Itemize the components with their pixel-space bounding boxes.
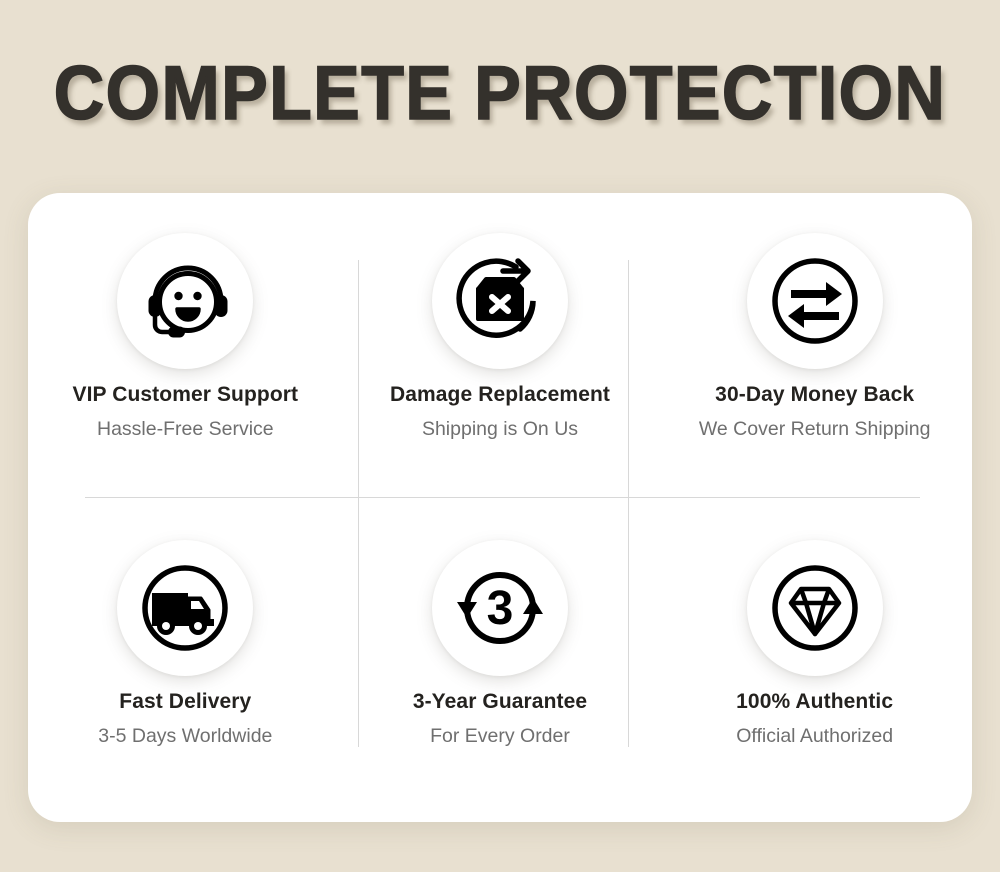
icon-number: 3 (487, 582, 514, 635)
feature-subtitle: Official Authorized (736, 725, 893, 748)
promo-banner: COMPLETE PROTECTION (0, 0, 1000, 872)
feature-item-guarantee: 3 3-Year Guarantee For Every Order (343, 508, 658, 823)
feature-subtitle: Shipping is On Us (422, 418, 578, 441)
diamond-icon (747, 540, 883, 676)
page-title: COMPLETE PROTECTION (54, 54, 946, 134)
exchange-arrows-icon (747, 233, 883, 369)
delivery-truck-icon (117, 540, 253, 676)
feature-title: 3-Year Guarantee (413, 690, 587, 714)
feature-item-authentic: 100% Authentic Official Authorized (657, 508, 972, 823)
three-year-cycle-icon: 3 (432, 540, 568, 676)
damaged-box-return-icon (432, 233, 568, 369)
page-title-container: COMPLETE PROTECTION (0, 54, 1000, 134)
feature-subtitle: 3-5 Days Worldwide (98, 725, 272, 748)
features-card: VIP Customer Support Hassle-Free Service… (28, 193, 972, 822)
feature-subtitle: Hassle-Free Service (97, 418, 274, 441)
feature-subtitle: For Every Order (430, 725, 570, 748)
feature-title: Fast Delivery (119, 690, 251, 714)
headset-smiley-icon (117, 233, 253, 369)
features-grid: VIP Customer Support Hassle-Free Service… (28, 193, 972, 822)
feature-title: VIP Customer Support (73, 383, 299, 407)
feature-item-fast-delivery: Fast Delivery 3-5 Days Worldwide (28, 508, 343, 823)
feature-title: 30-Day Money Back (715, 383, 914, 407)
feature-title: 100% Authentic (736, 690, 893, 714)
feature-item-vip-customer-support: VIP Customer Support Hassle-Free Service (28, 193, 343, 508)
feature-item-money-back: 30-Day Money Back We Cover Return Shippi… (657, 193, 972, 508)
feature-title: Damage Replacement (390, 383, 610, 407)
feature-item-damage-replacement: Damage Replacement Shipping is On Us (343, 193, 658, 508)
feature-subtitle: We Cover Return Shipping (699, 418, 931, 441)
